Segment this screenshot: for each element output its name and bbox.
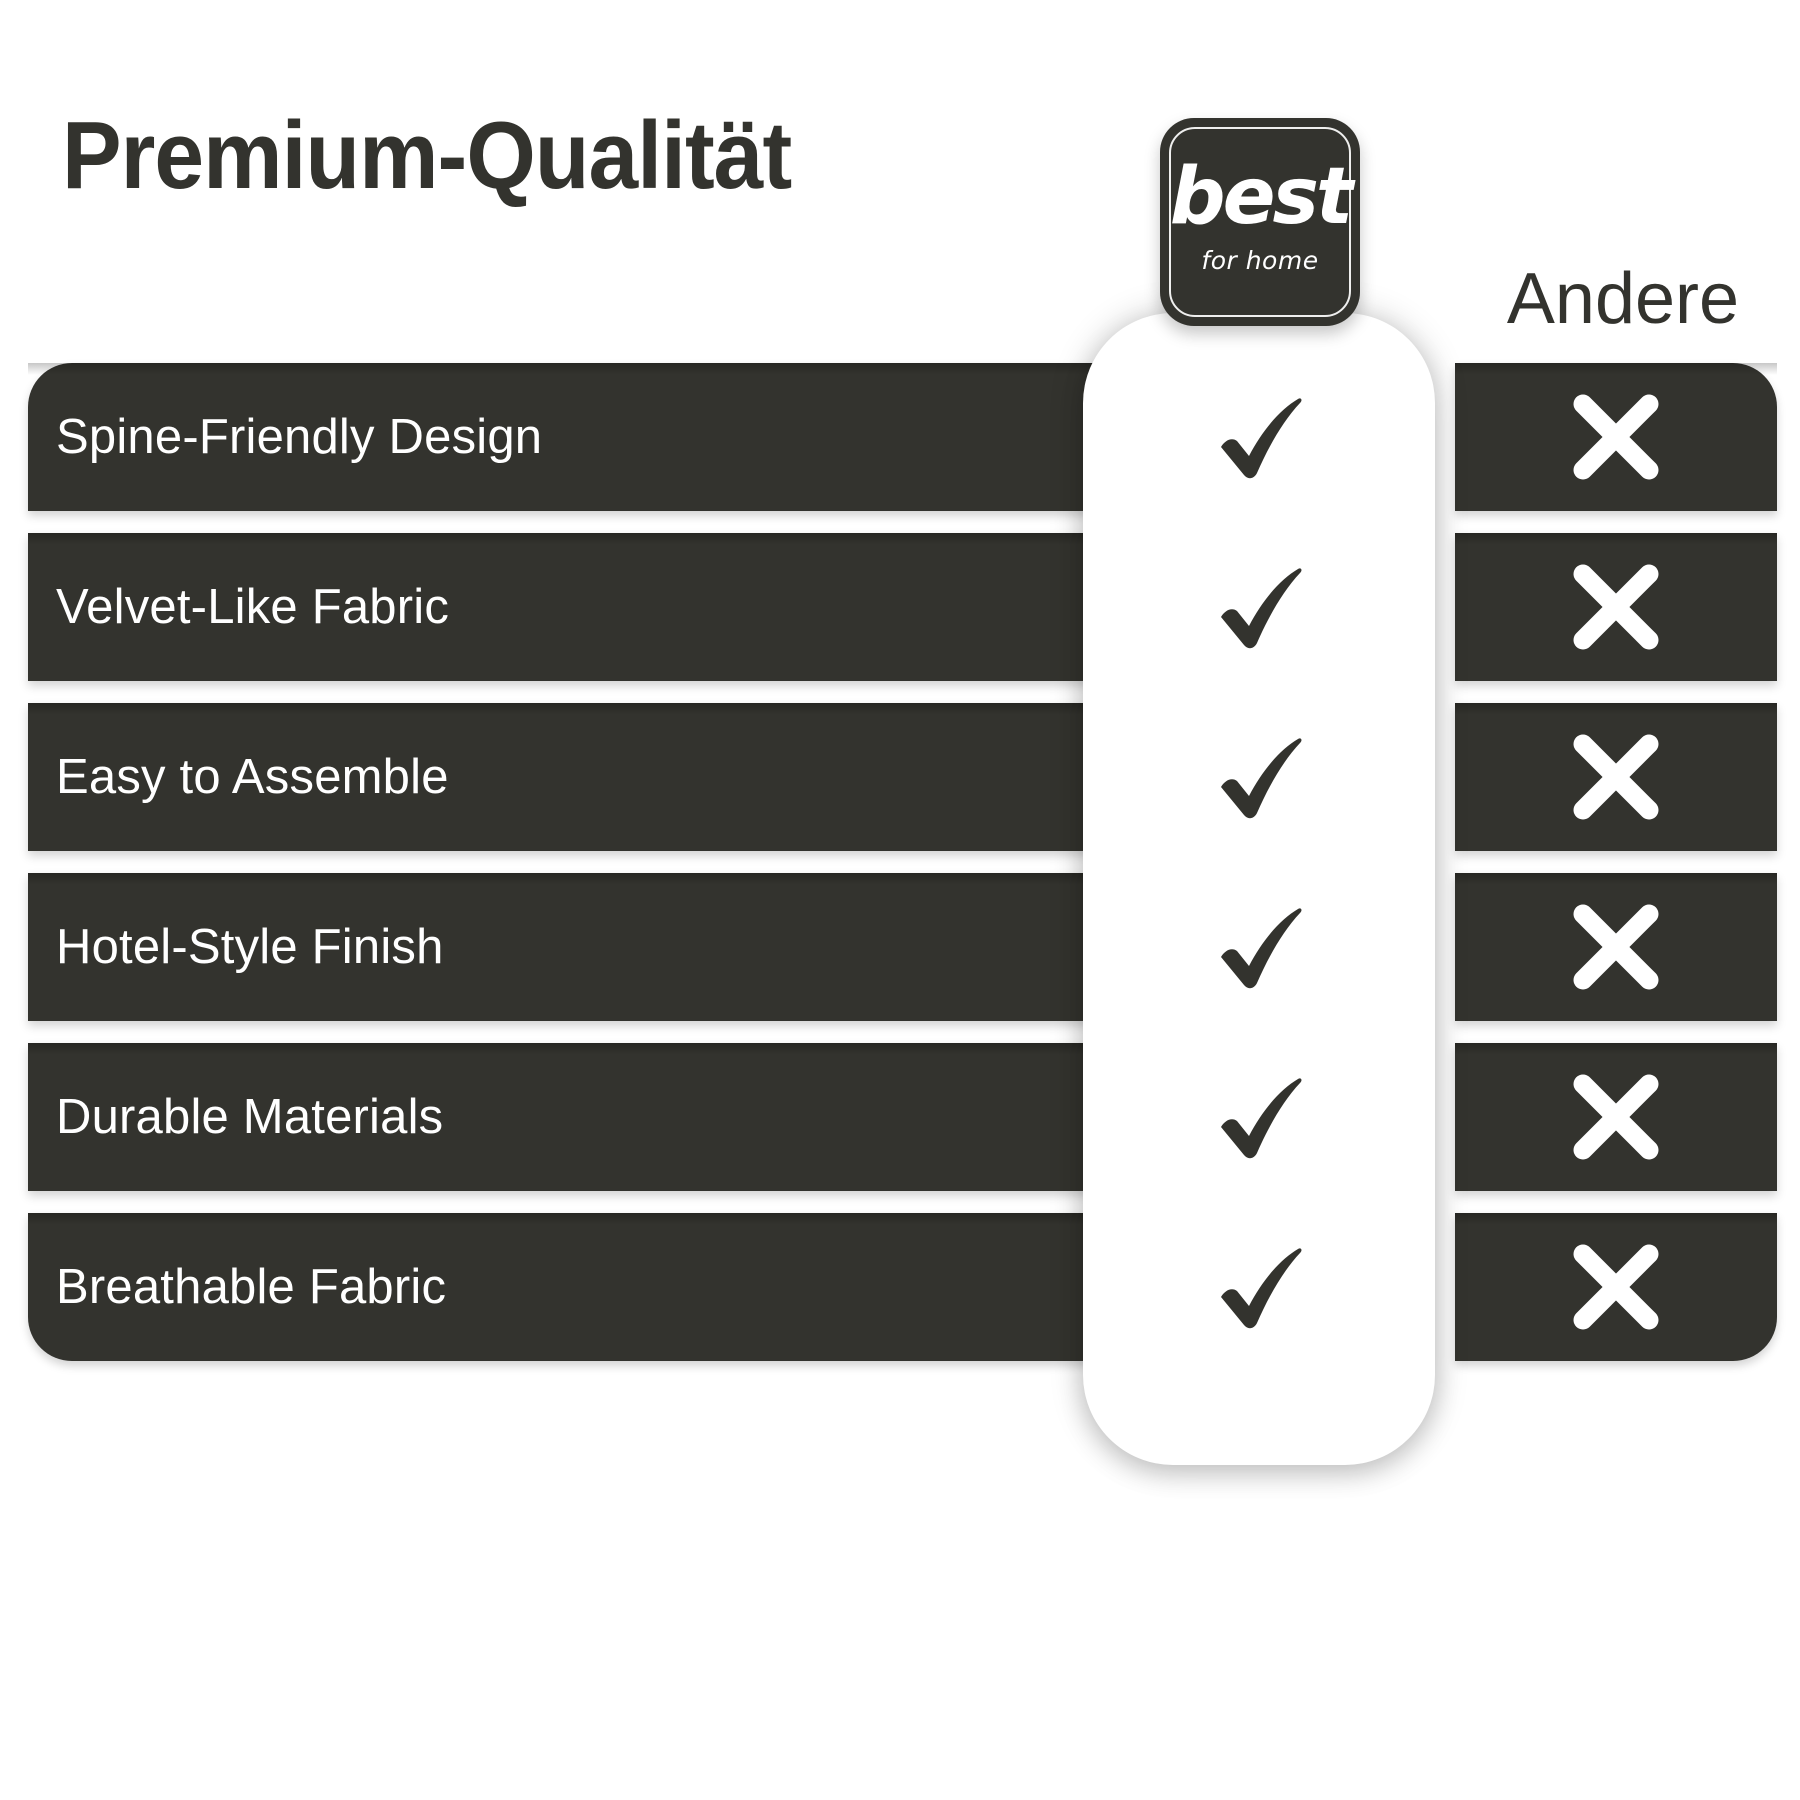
- row-top-shade: [28, 1213, 1118, 1225]
- feature-row: Easy to Assemble: [28, 703, 1118, 851]
- cross-icon: [1455, 1213, 1777, 1361]
- page-title: Premium-Qualität: [62, 108, 791, 204]
- cross-icon: [1455, 703, 1777, 851]
- feature-label: Easy to Assemble: [56, 749, 449, 805]
- row-top-shade: [28, 873, 1118, 885]
- feature-label: Hotel-Style Finish: [56, 919, 444, 975]
- best-for-home-logo: best for home: [1160, 118, 1360, 326]
- logo-secondary-text: for home: [1160, 246, 1360, 275]
- check-icon: [1083, 363, 1435, 511]
- feature-label: Spine-Friendly Design: [56, 409, 542, 465]
- check-icon: [1083, 703, 1435, 851]
- feature-row: Hotel-Style Finish: [28, 873, 1118, 1021]
- cross-icon: [1455, 873, 1777, 1021]
- cross-icon: [1455, 1043, 1777, 1191]
- logo-primary-text: best: [1160, 158, 1360, 236]
- cross-icon: [1455, 363, 1777, 511]
- cross-icon: [1455, 533, 1777, 681]
- feature-row: Durable Materials: [28, 1043, 1118, 1191]
- feature-row: Spine-Friendly Design: [28, 363, 1118, 511]
- check-icon: [1083, 1043, 1435, 1191]
- check-icon: [1083, 533, 1435, 681]
- feature-row: Velvet-Like Fabric: [28, 533, 1118, 681]
- check-icon: [1083, 1213, 1435, 1361]
- row-top-shade: [28, 363, 1118, 375]
- check-icon: [1083, 873, 1435, 1021]
- feature-label: Velvet-Like Fabric: [56, 579, 449, 635]
- row-top-shade: [28, 1043, 1118, 1055]
- column-header-other: Andere: [1468, 258, 1778, 340]
- feature-label: Durable Materials: [56, 1089, 443, 1145]
- comparison-infographic: Premium-Qualität Andere Spine-Friendly D…: [0, 0, 1800, 1800]
- feature-row: Breathable Fabric: [28, 1213, 1118, 1361]
- row-top-shade: [28, 533, 1118, 545]
- feature-label: Breathable Fabric: [56, 1259, 446, 1315]
- row-top-shade: [28, 703, 1118, 715]
